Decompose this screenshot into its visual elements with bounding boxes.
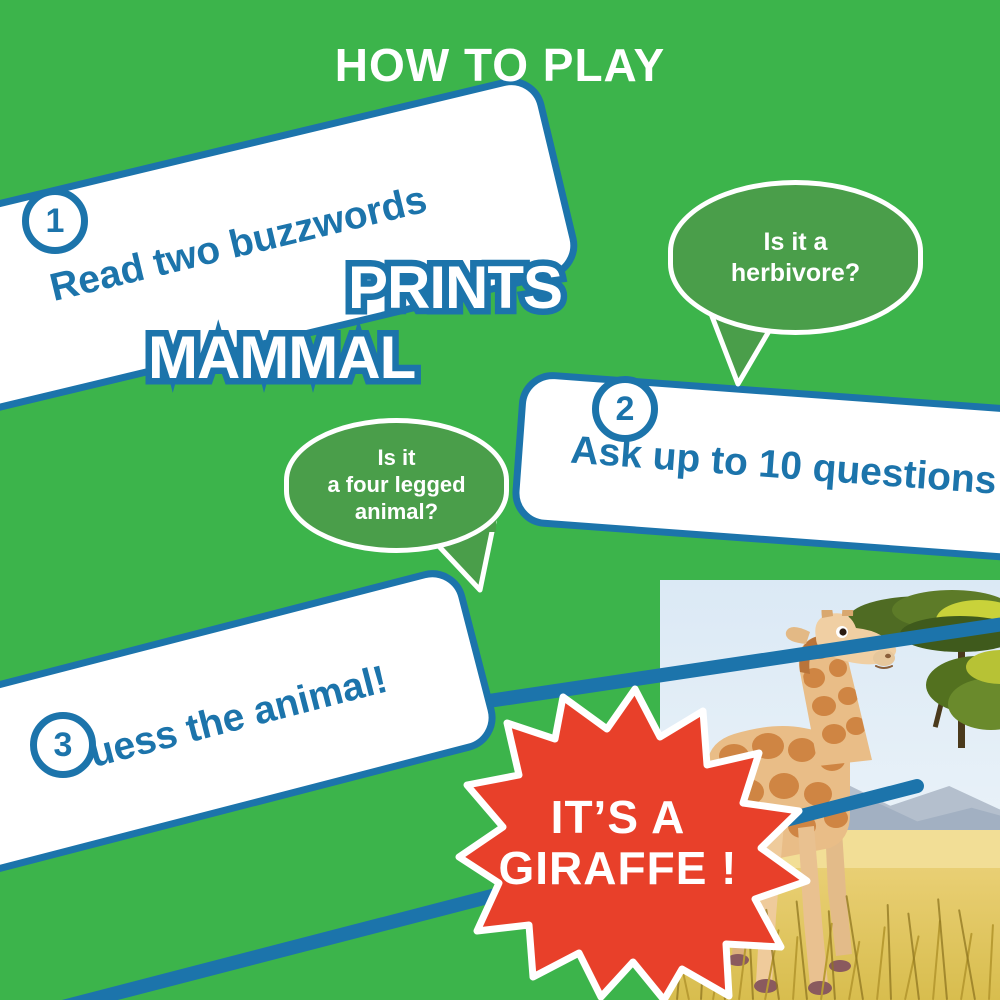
speech-bubble-1-line1: Is it a — [764, 228, 828, 256]
poster-canvas: HOW TO PLAY Read two buzzwords 1 PRINTS … — [0, 0, 1000, 1000]
speech-bubble-1-line2: herbivore? — [731, 259, 860, 287]
starburst-text: IT’S A GIRAFFE ! — [455, 685, 815, 1000]
buzzword-mammal: MAMMAL — [148, 323, 415, 392]
speech-bubble-four-legged: Is it a four legged animal? — [284, 418, 509, 553]
answer-starburst: IT’S A GIRAFFE ! — [455, 685, 815, 1000]
buzzword-prints: PRINTS — [348, 253, 562, 322]
starburst-line1: IT’S A — [551, 792, 686, 843]
speech-bubble-2-line2: a four legged — [327, 472, 465, 497]
step-2-number-badge: 2 — [592, 376, 658, 442]
step-3-label: Guess the animal! — [56, 658, 392, 785]
speech-bubble-2-line1: Is it — [378, 445, 416, 470]
starburst-line2: GIRAFFE ! — [499, 843, 738, 894]
step-3-number-badge: 3 — [30, 712, 96, 778]
page-title: HOW TO PLAY — [0, 38, 1000, 92]
step-2-banner: Ask up to 10 questions — [510, 370, 1000, 566]
speech-bubble-2-line3: animal? — [355, 499, 438, 524]
speech-bubble-herbivore: Is it a herbivore? — [668, 180, 923, 335]
step-1-number-badge: 1 — [22, 188, 88, 254]
